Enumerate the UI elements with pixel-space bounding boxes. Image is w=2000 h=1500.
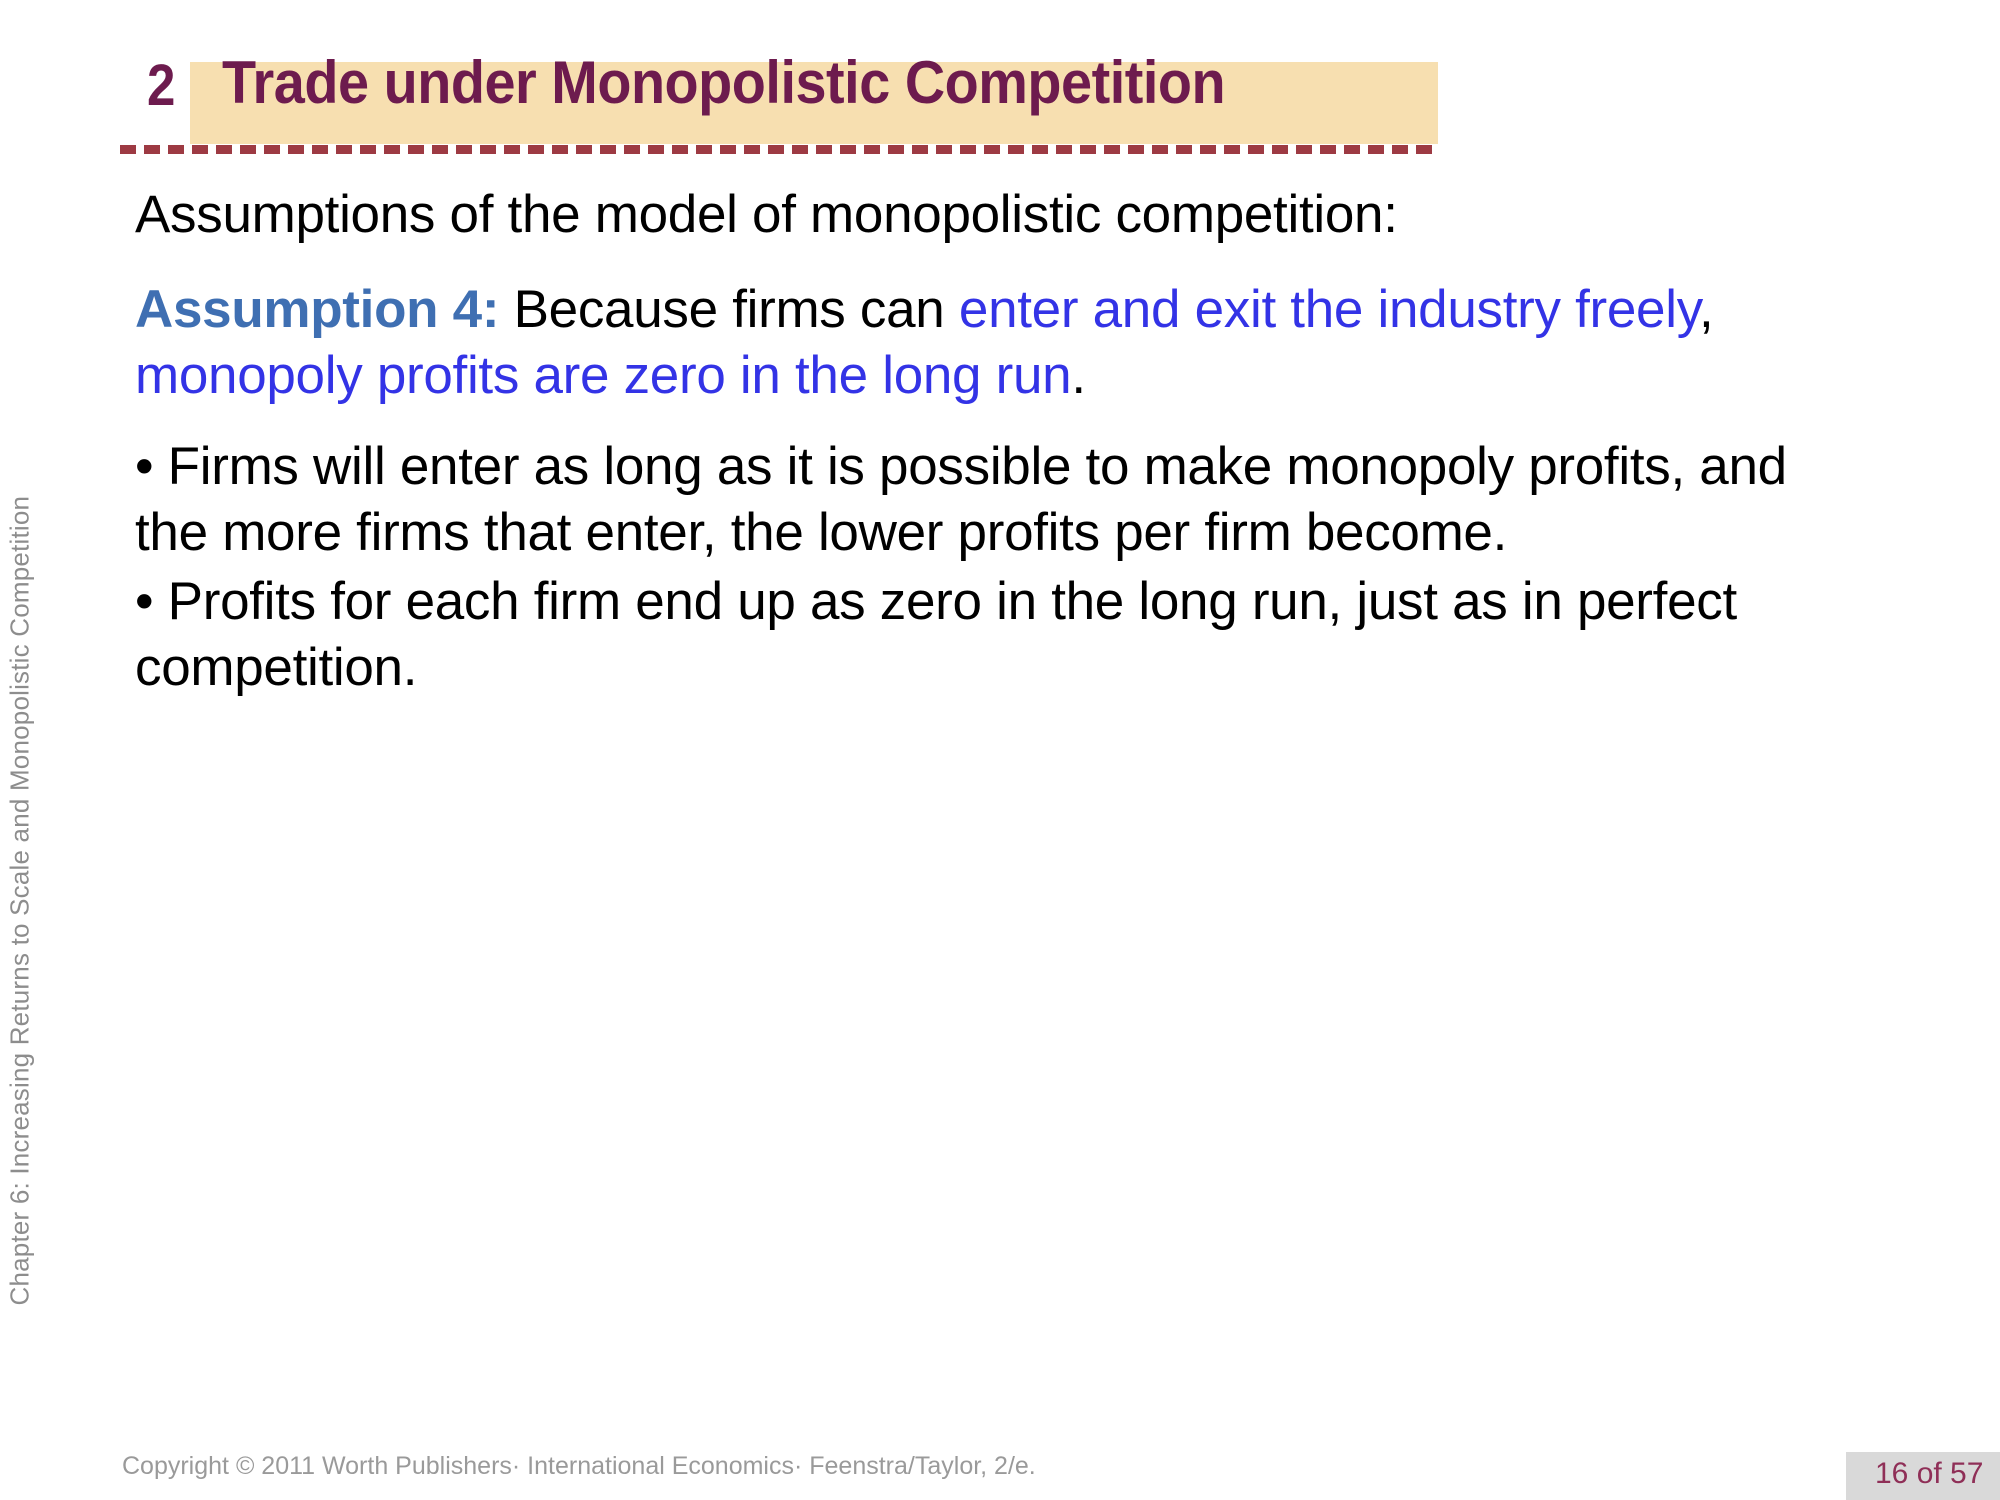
page-indicator-text: 16 of 57 — [1875, 1457, 1983, 1491]
slide-canvas: 2 Trade under Monopolistic Competition A… — [0, 0, 2000, 1500]
assumption-label: Assumption 4: — [135, 280, 499, 339]
bullet-item-1: • Firms will enter as long as it is poss… — [135, 434, 1855, 565]
assumption-text-black-3: . — [1071, 346, 1085, 405]
bullet-item-2: • Profits for each firm end up as zero i… — [135, 569, 1855, 700]
section-number: 2 — [147, 52, 175, 119]
title-dashed-rule — [120, 145, 1438, 154]
assumption-text-black-2: , — [1699, 280, 1713, 339]
page-title: Trade under Monopolistic Competition — [222, 48, 1225, 117]
assumption-text-blue-2: monopoly profits are zero in the long ru… — [135, 346, 1071, 405]
assumption-text-black-1: Because firms can — [499, 280, 959, 339]
copyright-notice: Copyright © 2011 Worth Publishers· Inter… — [122, 1452, 1036, 1481]
assumption-paragraph: Assumption 4: Because firms can enter an… — [135, 277, 1855, 408]
slide-body: Assumptions of the model of monopolistic… — [135, 182, 1855, 704]
slide-title-block: 2 Trade under Monopolistic Competition — [0, 0, 2000, 170]
chapter-side-caption: Chapter 6: Increasing Returns to Scale a… — [5, 106, 36, 1306]
intro-line: Assumptions of the model of monopolistic… — [135, 182, 1855, 247]
assumption-text-blue-1: enter and exit the industry freely — [959, 280, 1699, 339]
